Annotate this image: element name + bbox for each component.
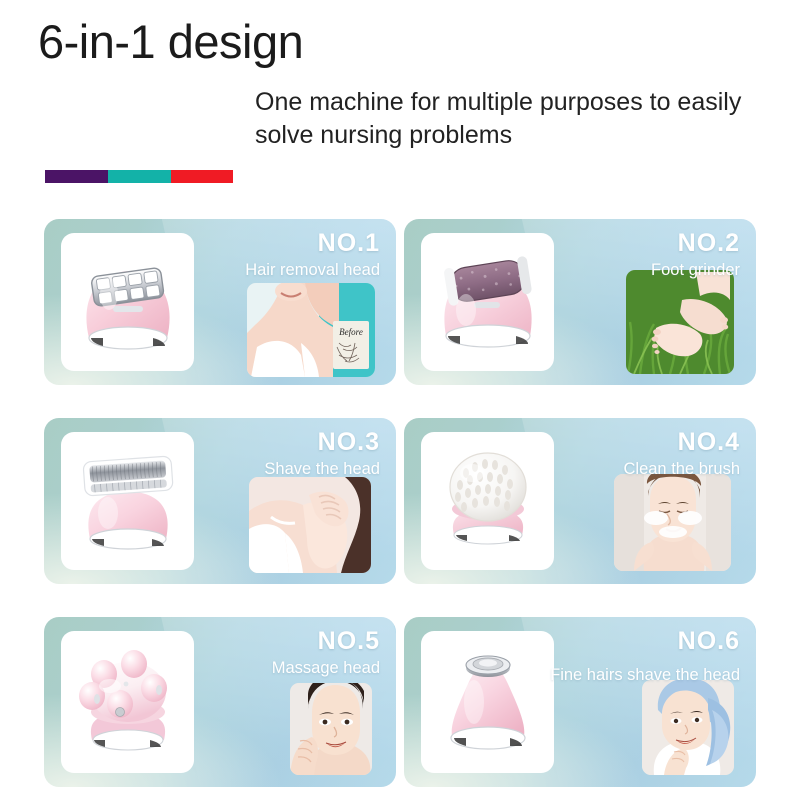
feature-card-4[interactable]: NO.4 Clean the brush <box>404 418 756 584</box>
bare-feet-on-grass-photo <box>626 270 734 374</box>
woman-headscarf-photo <box>642 680 734 775</box>
card-text-block: NO.2 Foot grinder <box>550 228 740 282</box>
underarm-before-photo: Before <box>247 283 375 377</box>
card-number: NO.4 <box>550 427 740 457</box>
card-text-block: NO.4 Clean the brush <box>550 427 740 481</box>
page-subtitle: One machine for multiple purposes to eas… <box>255 86 785 152</box>
card-number: NO.3 <box>190 427 380 457</box>
card-description: Foot grinder <box>550 259 740 282</box>
woman-shoulder-arm-photo <box>249 477 371 573</box>
header: 6-in-1 design One machine for multiple p… <box>0 0 800 200</box>
card-description: Fine hairs shave the head <box>550 657 740 693</box>
card-description: Clean the brush <box>550 458 740 481</box>
svg-text:Before: Before <box>339 327 363 337</box>
feature-card-2[interactable]: NO.2 Foot grinder <box>404 219 756 385</box>
card-text-block: NO.6 Fine hairs shave the head <box>550 626 740 693</box>
feature-card-1[interactable]: NO.1 Hair removal head Before <box>44 219 396 385</box>
accent-color-bar <box>45 170 233 183</box>
accent-swatch-purple <box>45 170 108 183</box>
facial-cleansing-brush-icon <box>421 432 554 570</box>
infographic-page: 6-in-1 design One machine for multiple p… <box>0 0 800 800</box>
accent-swatch-teal <box>108 170 171 183</box>
feature-card-6[interactable]: NO.6 Fine hairs shave the head <box>404 617 756 787</box>
card-number: NO.5 <box>190 626 380 656</box>
fine-hair-shaver-icon <box>421 631 554 773</box>
page-title: 6-in-1 design <box>38 14 303 70</box>
product-image-panel <box>421 432 554 570</box>
feature-card-5[interactable]: NO.5 Massage head <box>44 617 396 787</box>
card-description: Hair removal head <box>190 259 380 282</box>
product-image-panel <box>421 233 554 371</box>
feature-card-3[interactable]: NO.3 Shave the head <box>44 418 396 584</box>
product-image-panel <box>421 631 554 773</box>
product-image-panel <box>61 432 194 570</box>
card-number: NO.6 <box>550 626 740 656</box>
massage-nodes-head-icon <box>61 631 194 773</box>
card-text-block: NO.5 Massage head <box>190 626 380 680</box>
woman-touching-cheek-photo <box>290 683 372 775</box>
shaver-foil-head-icon <box>61 432 194 570</box>
product-image-panel <box>61 233 194 371</box>
foot-grinder-roller-icon <box>421 233 554 371</box>
product-image-panel <box>61 631 194 773</box>
woman-washing-face-photo <box>614 474 731 571</box>
accent-swatch-red <box>171 170 233 183</box>
card-number: NO.2 <box>550 228 740 258</box>
card-number: NO.1 <box>190 228 380 258</box>
card-text-block: NO.3 Shave the head <box>190 427 380 481</box>
feature-card-grid: NO.1 Hair removal head Before <box>44 219 756 789</box>
card-description: Massage head <box>190 657 380 680</box>
epilator-head-icon <box>61 233 194 371</box>
card-text-block: NO.1 Hair removal head <box>190 228 380 282</box>
card-description: Shave the head <box>190 458 380 481</box>
